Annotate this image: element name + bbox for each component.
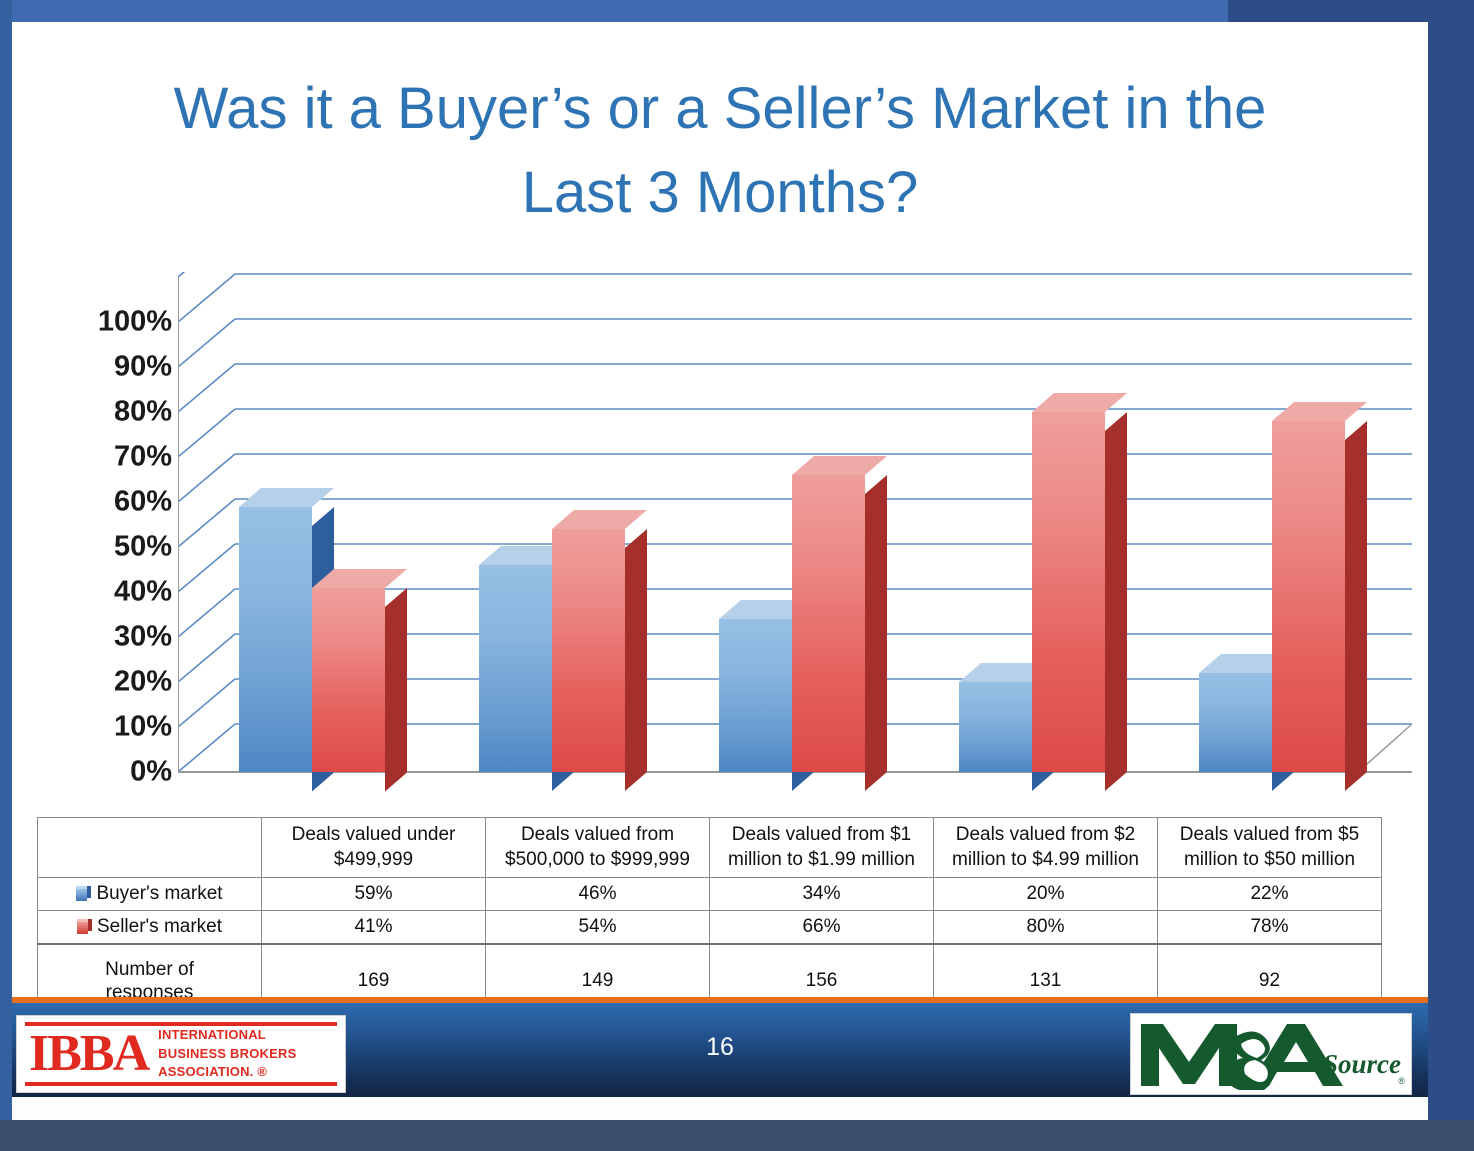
category-header-2-line2: million to $1.99 million xyxy=(712,848,931,873)
category-header-2-line1: Deals valued from $1 xyxy=(712,823,931,848)
bar-side-face xyxy=(865,475,889,793)
category-header-3-line2: million to $4.99 million xyxy=(936,848,1155,873)
bar-front-face xyxy=(1199,673,1272,772)
cell-sellers-4: 78% xyxy=(1158,911,1382,945)
category-header-4: Deals valued from $5 million to $50 mill… xyxy=(1158,818,1382,878)
category-header-1-line1: Deals valued from xyxy=(488,823,707,848)
y-tick-20pct: 20% xyxy=(22,666,172,699)
bar-top-face xyxy=(239,488,336,509)
bar-front-face xyxy=(719,619,792,772)
y-tick-100pct: 100% xyxy=(22,306,172,339)
cell-buyers-2: 34% xyxy=(710,878,934,911)
cell-sellers-3: 80% xyxy=(934,911,1158,945)
ibba-rule-top xyxy=(25,1022,337,1026)
bar-front-face xyxy=(479,565,552,772)
right-border-rail xyxy=(1428,0,1474,1151)
bar-front-face xyxy=(552,529,625,772)
bar-side-face xyxy=(385,588,409,794)
category-header-3-line1: Deals valued from $2 xyxy=(936,823,1155,848)
category-header-4-line2: million to $50 million xyxy=(1160,848,1379,873)
y-tick-40pct: 40% xyxy=(22,576,172,609)
bar-side-face xyxy=(625,529,649,793)
cell-buyers-0: 59% xyxy=(262,878,486,911)
ma-source-registered: ® xyxy=(1398,1076,1405,1086)
category-header-1-line2: $500,000 to $999,999 xyxy=(488,848,707,873)
cell-buyers-1: 46% xyxy=(486,878,710,911)
category-header-0-line1: Deals valued under xyxy=(264,823,483,848)
plot-area xyxy=(178,272,1418,817)
bar-top-face xyxy=(312,569,409,590)
bar-front-face xyxy=(959,682,1032,772)
row-label-responses-line1: Number of xyxy=(40,958,259,982)
page-title-line-1: Was it a Buyer’s or a Seller’s Market in… xyxy=(72,67,1368,151)
legend-buyers-market-label: Buyer's market xyxy=(96,883,222,904)
y-tick-90pct: 90% xyxy=(22,351,172,384)
bar-top-face xyxy=(552,510,649,531)
y-tick-50pct: 50% xyxy=(22,531,172,564)
bar-chart: 0%10%20%30%40%50%60%70%80%90%100% xyxy=(12,272,1428,852)
bar-top-face xyxy=(1032,393,1129,414)
legend-swatch-red-icon xyxy=(77,919,92,934)
left-border-rail xyxy=(0,0,12,1120)
bar-sellers-3 xyxy=(1032,412,1105,772)
bar-front-face xyxy=(1272,421,1345,772)
legend-sellers-market-label: Seller's market xyxy=(97,916,222,937)
y-tick-0pct: 0% xyxy=(22,756,172,789)
category-header-1: Deals valued from $500,000 to $999,999 xyxy=(486,818,710,878)
y-tick-70pct: 70% xyxy=(22,441,172,474)
cell-sellers-1: 54% xyxy=(486,911,710,945)
y-tick-30pct: 30% xyxy=(22,621,172,654)
ibba-tagline-line1: INTERNATIONAL xyxy=(158,1026,296,1045)
bar-side-face xyxy=(1105,412,1129,793)
cell-sellers-2: 66% xyxy=(710,911,934,945)
bar-sellers-4 xyxy=(1272,421,1345,772)
data-table: Deals valued under $499,999 Deals valued… xyxy=(37,817,1382,1018)
ibba-logo: IBBA INTERNATIONAL BUSINESS BROKERS ASSO… xyxy=(16,1015,346,1093)
bar-buyers-3 xyxy=(959,682,1032,772)
bar-front-face xyxy=(239,507,312,773)
category-header-4-line1: Deals valued from $5 xyxy=(1160,823,1379,848)
page-title: Was it a Buyer’s or a Seller’s Market in… xyxy=(72,67,1368,235)
bar-sellers-1 xyxy=(552,529,625,772)
slide-background: Was it a Buyer’s or a Seller’s Market in… xyxy=(0,0,1474,1151)
ibba-tagline-line3: ASSOCIATION. ® xyxy=(158,1063,296,1082)
bar-front-face xyxy=(312,588,385,773)
ibba-tagline-line2: BUSINESS BROKERS xyxy=(158,1045,296,1064)
table-row-buyers-market: Buyer's market 59% 46% 34% 20% 22% xyxy=(38,878,1382,911)
slide-canvas: Was it a Buyer’s or a Seller’s Market in… xyxy=(12,22,1428,997)
category-header-2: Deals valued from $1 million to $1.99 mi… xyxy=(710,818,934,878)
bar-buyers-0 xyxy=(239,507,312,773)
bar-top-face xyxy=(792,456,889,477)
table-row-categories: Deals valued under $499,999 Deals valued… xyxy=(38,818,1382,878)
table-row-sellers-market: Seller's market 41% 54% 66% 80% 78% xyxy=(38,911,1382,945)
ibba-wordmark: IBBA xyxy=(29,1028,148,1080)
legend-sellers-market: Seller's market xyxy=(38,911,262,945)
category-header-3: Deals valued from $2 million to $4.99 mi… xyxy=(934,818,1158,878)
table-corner-cell xyxy=(38,818,262,878)
bar-buyers-4 xyxy=(1199,673,1272,772)
y-tick-10pct: 10% xyxy=(22,711,172,744)
top-band-light xyxy=(0,0,1228,22)
page-title-line-2: Last 3 Months? xyxy=(72,151,1368,235)
ibba-tagline: INTERNATIONAL BUSINESS BROKERS ASSOCIATI… xyxy=(158,1026,296,1083)
bar-front-face xyxy=(792,475,865,772)
ma-source-word: Source xyxy=(1323,1049,1401,1080)
cell-buyers-3: 20% xyxy=(934,878,1158,911)
bar-buyers-1 xyxy=(479,565,552,772)
y-tick-60pct: 60% xyxy=(22,486,172,519)
bar-buyers-2 xyxy=(719,619,792,772)
legend-swatch-blue-icon xyxy=(76,886,91,901)
ma-source-logo: Source ® xyxy=(1130,1013,1412,1095)
bar-top-face xyxy=(1272,402,1369,423)
legend-buyers-market: Buyer's market xyxy=(38,878,262,911)
bar-sellers-0 xyxy=(312,588,385,773)
y-axis-tick-labels: 0%10%20%30%40%50%60%70%80%90%100% xyxy=(12,272,172,802)
y-tick-80pct: 80% xyxy=(22,396,172,429)
cell-sellers-0: 41% xyxy=(262,911,486,945)
category-header-0: Deals valued under $499,999 xyxy=(262,818,486,878)
ibba-rule-bottom xyxy=(25,1082,337,1086)
slide-footer: 16 IBBA INTERNATIONAL BUSINESS BROKERS A… xyxy=(12,997,1428,1097)
bottom-rail xyxy=(0,1120,1474,1151)
bar-sellers-2 xyxy=(792,475,865,772)
bar-front-face xyxy=(1032,412,1105,772)
cell-buyers-4: 22% xyxy=(1158,878,1382,911)
category-header-0-line2: $499,999 xyxy=(264,848,483,873)
bar-side-face xyxy=(1345,421,1369,793)
data-table-wrapper: Deals valued under $499,999 Deals valued… xyxy=(37,817,1382,1018)
chart-bars xyxy=(178,272,1418,817)
